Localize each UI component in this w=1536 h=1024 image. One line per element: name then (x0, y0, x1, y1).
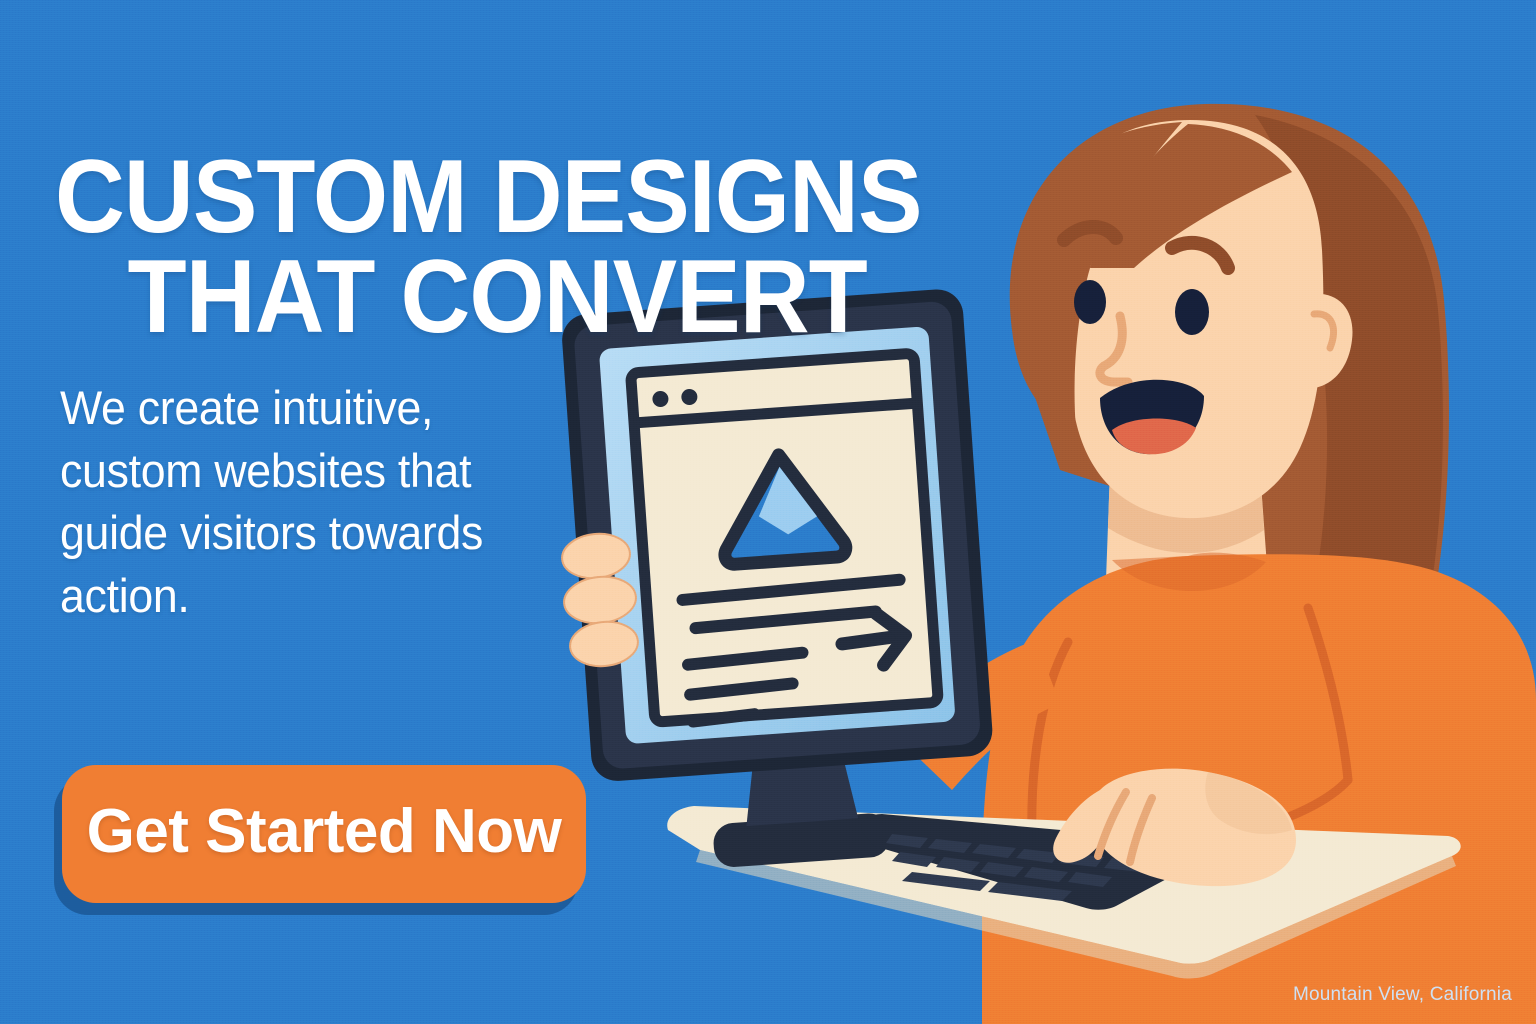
page-title: CUSTOM DESIGNS THAT CONVERT (55, 148, 892, 348)
get-started-button[interactable]: Get Started Now (62, 765, 586, 903)
eye-left (1074, 280, 1106, 324)
headline-line-1: CUSTOM DESIGNS (55, 148, 892, 248)
browser-window-wireframe (631, 353, 939, 724)
eye-right (1175, 289, 1209, 335)
cta-container: Get Started Now (62, 765, 586, 903)
marketing-banner: CUSTOM DESIGNS THAT CONVERT We create in… (0, 0, 1536, 1024)
headline-line-2: THAT CONVERT (55, 248, 892, 348)
location-caption: Mountain View, California (1293, 984, 1512, 1006)
hand-gripping-monitor (560, 531, 640, 670)
torso-sweater (982, 553, 1536, 1024)
subcopy-text: We create intuitive, custom websites tha… (60, 377, 507, 627)
